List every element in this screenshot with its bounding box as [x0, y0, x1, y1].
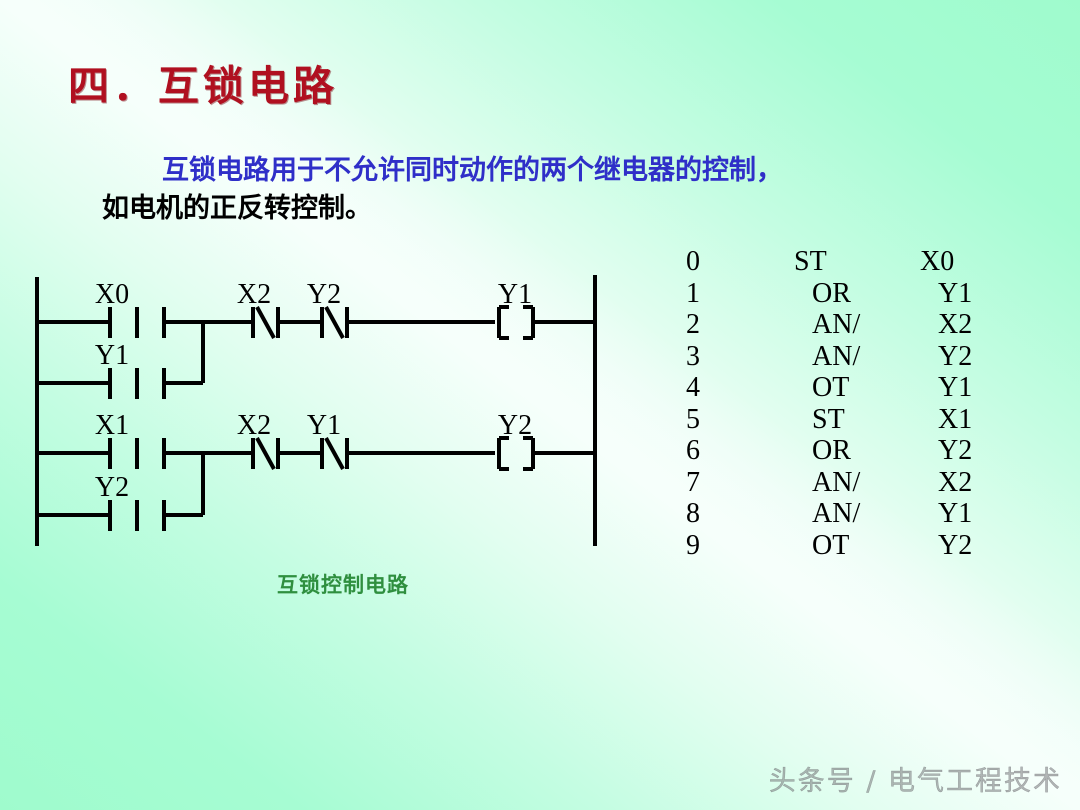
instruction-row: 2AN/X2 — [686, 309, 1018, 341]
label-rung1-y2: Y2 — [307, 279, 341, 310]
instruction-address: 6 — [686, 435, 794, 467]
instruction-operand: Y1 — [920, 498, 1018, 530]
rung2-contact-x2-slash — [257, 438, 274, 469]
instruction-opcode: OT — [794, 530, 920, 562]
label-rung1-x2: X2 — [237, 279, 271, 310]
label-rung2-coil: Y2 — [498, 410, 532, 441]
instruction-operand: X0 — [920, 246, 1018, 278]
instruction-operand: Y2 — [920, 530, 1018, 562]
instruction-operand: Y2 — [920, 435, 1018, 467]
instruction-row: 8AN/Y1 — [686, 498, 1018, 530]
instruction-operand: Y2 — [920, 341, 1018, 373]
instruction-opcode: ST — [794, 404, 920, 436]
instruction-address: 1 — [686, 278, 794, 310]
instruction-opcode: ST — [794, 246, 920, 278]
instruction-row: 4OTY1 — [686, 372, 1018, 404]
instruction-opcode: OR — [794, 278, 920, 310]
instruction-address: 9 — [686, 530, 794, 562]
instruction-opcode: AN/ — [794, 498, 920, 530]
instruction-row: 6ORY2 — [686, 435, 1018, 467]
instruction-opcode: AN/ — [794, 309, 920, 341]
instruction-operand: X1 — [920, 404, 1018, 436]
label-rung2-y2: Y2 — [95, 472, 129, 503]
rung1-contact-x2-slash — [257, 307, 274, 338]
ladder-diagram: X0 Y1 X2 Y2 Y1 X1 Y2 X2 Y1 Y2 — [0, 0, 640, 600]
instruction-row: 9OTY2 — [686, 530, 1018, 562]
instruction-operand: X2 — [920, 309, 1018, 341]
ladder-caption: 互锁控制电路 — [277, 569, 409, 599]
instruction-list-table: 0STX01ORY12AN/X23AN/Y24OTY15STX16ORY27AN… — [686, 246, 1018, 561]
instruction-address: 5 — [686, 404, 794, 436]
instruction-row: 1ORY1 — [686, 278, 1018, 310]
instruction-list-body: 0STX01ORY12AN/X23AN/Y24OTY15STX16ORY27AN… — [686, 246, 1018, 561]
label-rung1-x0: X0 — [95, 279, 129, 310]
instruction-row: 3AN/Y2 — [686, 341, 1018, 373]
instruction-address: 7 — [686, 467, 794, 499]
rung2-contact-y1-slash — [326, 438, 343, 469]
label-rung1-y1: Y1 — [95, 340, 129, 371]
rung1-contact-y2-slash — [326, 307, 343, 338]
instruction-opcode: AN/ — [794, 341, 920, 373]
label-rung2-x2: X2 — [237, 410, 271, 441]
instruction-row: 5STX1 — [686, 404, 1018, 436]
instruction-address: 4 — [686, 372, 794, 404]
instruction-address: 8 — [686, 498, 794, 530]
label-rung2-y1: Y1 — [307, 410, 341, 441]
instruction-opcode: OT — [794, 372, 920, 404]
watermark: 头条号 / 电气工程技术 — [769, 759, 1062, 798]
label-rung2-x1: X1 — [95, 410, 129, 441]
instruction-address: 0 — [686, 246, 794, 278]
label-rung1-coil: Y1 — [498, 279, 532, 310]
instruction-opcode: AN/ — [794, 467, 920, 499]
instruction-operand: Y1 — [920, 278, 1018, 310]
instruction-address: 3 — [686, 341, 794, 373]
instruction-row: 0STX0 — [686, 246, 1018, 278]
instruction-opcode: OR — [794, 435, 920, 467]
instruction-operand: X2 — [920, 467, 1018, 499]
instruction-operand: Y1 — [920, 372, 1018, 404]
instruction-address: 2 — [686, 309, 794, 341]
instruction-row: 7AN/X2 — [686, 467, 1018, 499]
slide-canvas: 四．互锁电路 互锁电路用于不允许同时动作的两个继电器的控制， 如电机的正反转控制… — [0, 0, 1080, 810]
